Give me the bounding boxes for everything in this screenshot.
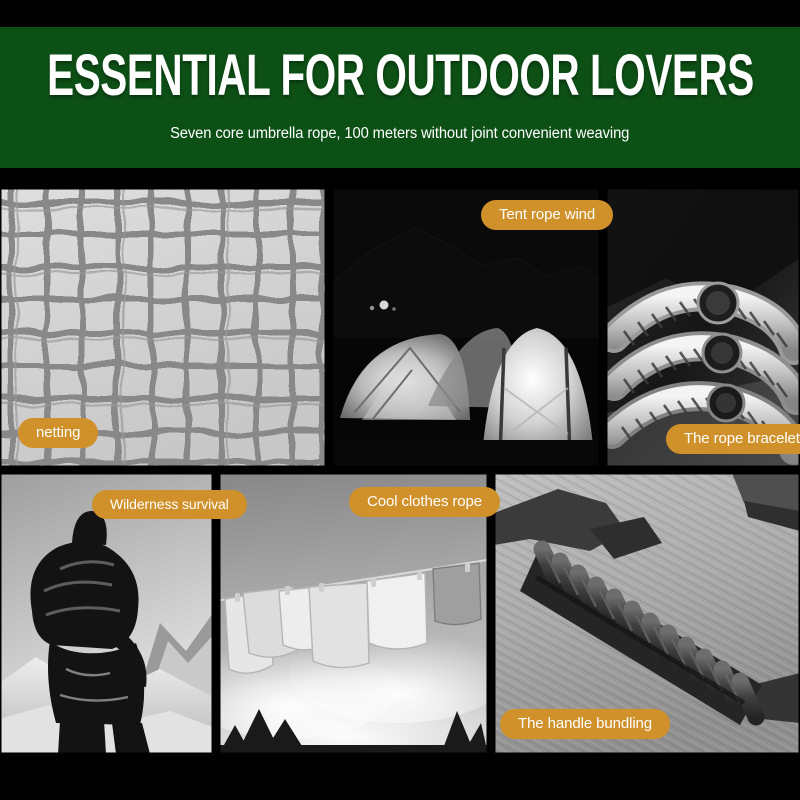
product-infographic: ESSENTIAL FOR OUTDOOR LOVERS Seven core … — [0, 0, 800, 800]
photo-grid — [0, 188, 800, 754]
page-title: ESSENTIAL FOR OUTDOOR LOVERS — [47, 45, 754, 104]
panel-label-handle[interactable]: The handle bundling — [500, 709, 670, 739]
panel-label-clothes[interactable]: Cool clothes rope — [349, 487, 500, 517]
header-banner: ESSENTIAL FOR OUTDOOR LOVERS Seven core … — [0, 27, 800, 168]
page-subtitle: Seven core umbrella rope, 100 meters wit… — [170, 125, 629, 143]
panel-label-wilderness[interactable]: Wilderness survival — [92, 490, 247, 519]
panel-label-bracelet[interactable]: The rope bracelet — [666, 424, 800, 454]
panel-label-tent[interactable]: Tent rope wind — [481, 200, 613, 230]
panel-label-netting[interactable]: netting — [18, 418, 98, 448]
